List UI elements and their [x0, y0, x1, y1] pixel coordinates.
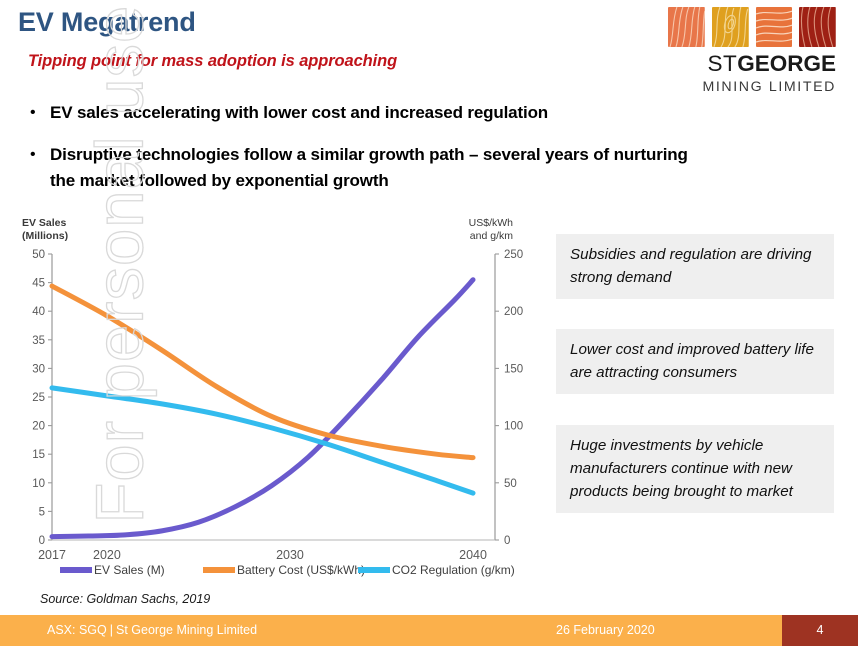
- note-card: Lower cost and improved battery life are…: [556, 329, 834, 394]
- footer: ASX: SGQ|St George Mining Limited 26 Feb…: [0, 615, 858, 646]
- footer-asx-code: ASX: SGQ: [47, 623, 107, 637]
- y-axis-tick-label: 50: [32, 249, 45, 261]
- series-line: [52, 286, 473, 458]
- y2-axis-title: and g/km: [470, 230, 513, 242]
- y-axis-title: EV Sales: [22, 217, 67, 229]
- note-card: Subsidies and regulation are driving str…: [556, 234, 834, 299]
- y-axis-tick-label: 25: [32, 392, 45, 404]
- y2-axis-tick-label: 0: [504, 535, 510, 547]
- note-card: Huge investments by vehicle manufacturer…: [556, 425, 834, 513]
- footer-page-number: 4: [782, 615, 858, 646]
- y-axis-tick-label: 45: [32, 278, 45, 290]
- ev-megatrend-chart: EV Sales(Millions)US$/kWhand g/km0510152…: [8, 212, 538, 587]
- y2-axis-tick-label: 50: [504, 478, 517, 490]
- logo-subtext: MINING LIMITED: [668, 79, 836, 95]
- x-axis-tick-label: 2020: [93, 548, 121, 562]
- series-line: [52, 388, 473, 493]
- footer-date: 26 February 2020: [556, 615, 655, 646]
- page-title: EV Megatrend: [18, 7, 196, 38]
- footer-company-name: St George Mining Limited: [116, 623, 257, 637]
- y-axis-tick-label: 15: [32, 449, 45, 461]
- bullet-list: • EV sales accelerating with lower cost …: [30, 100, 690, 210]
- y2-axis-title: US$/kWh: [469, 217, 514, 229]
- y-axis-title: (Millions): [22, 230, 68, 242]
- logo-squares: [668, 7, 836, 47]
- y-axis-tick-label: 40: [32, 306, 45, 318]
- bullet-marker: •: [30, 142, 50, 194]
- y-axis-tick-label: 10: [32, 478, 45, 490]
- legend-label: CO2 Regulation (g/km): [392, 563, 515, 577]
- bullet-text: Disruptive technologies follow a similar…: [50, 142, 690, 194]
- logo-wordmark: STGEORGE: [668, 53, 836, 76]
- page-subtitle: Tipping point for mass adoption is appro…: [28, 52, 397, 71]
- y2-axis-tick-label: 100: [504, 421, 523, 433]
- y2-axis-tick-label: 250: [504, 249, 523, 261]
- legend-label: EV Sales (M): [94, 563, 165, 577]
- x-axis-tick-label: 2030: [276, 548, 304, 562]
- y-axis-tick-label: 0: [39, 535, 45, 547]
- logo-square-1: [668, 7, 705, 47]
- x-axis-tick-label: 2040: [459, 548, 487, 562]
- bullet-item: • EV sales accelerating with lower cost …: [30, 100, 690, 126]
- y2-axis-tick-label: 200: [504, 306, 523, 318]
- y-axis-tick-label: 35: [32, 335, 45, 347]
- footer-company-info: ASX: SGQ|St George Mining Limited: [47, 615, 257, 646]
- logo-square-2: [712, 7, 749, 47]
- side-notes: Subsidies and regulation are driving str…: [556, 234, 834, 513]
- slide: For personal use only EV Megatrend Tippi…: [0, 0, 858, 646]
- legend-label: Battery Cost (US$/kWh): [237, 563, 365, 577]
- y2-axis-tick-label: 150: [504, 363, 523, 375]
- bullet-item: • Disruptive technologies follow a simil…: [30, 142, 690, 194]
- x-axis-tick-label: 2017: [38, 548, 66, 562]
- bullet-marker: •: [30, 100, 50, 126]
- bullet-text: EV sales accelerating with lower cost an…: [50, 100, 548, 126]
- logo-square-3: [756, 7, 793, 47]
- company-logo: STGEORGE MINING LIMITED: [668, 7, 836, 95]
- logo-word-st: ST: [707, 51, 737, 76]
- y-axis-tick-label: 20: [32, 421, 45, 433]
- footer-separator: |: [107, 623, 116, 637]
- chart-source: Source: Goldman Sachs, 2019: [40, 592, 210, 606]
- logo-word-george: GEORGE: [737, 51, 836, 76]
- y-axis-tick-label: 30: [32, 363, 45, 375]
- chart-canvas: EV Sales(Millions)US$/kWhand g/km0510152…: [8, 212, 538, 587]
- y-axis-tick-label: 5: [39, 506, 45, 518]
- logo-square-4: [799, 7, 836, 47]
